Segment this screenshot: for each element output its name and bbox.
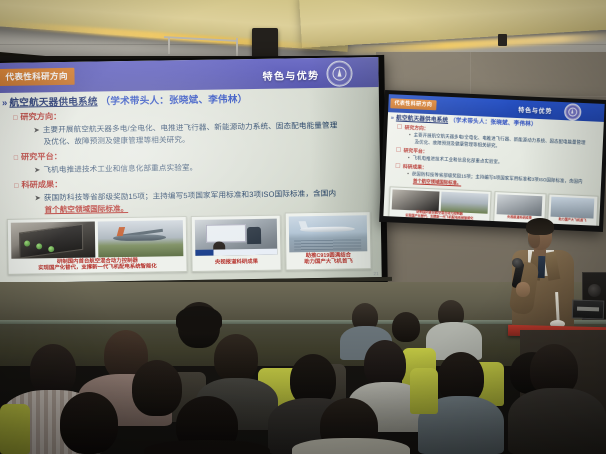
presenter-hand <box>516 282 530 297</box>
audience-shoulders <box>144 440 270 454</box>
desk-nameplate <box>572 299 605 319</box>
audience-head <box>176 306 222 332</box>
audience-shoulders <box>292 438 410 454</box>
conference-hall-photo: 代表性科研方向 特色与优势 »航空航天器供电系统 （学术带头人：张晓斌、李伟林）… <box>0 0 606 454</box>
audience-shoulders <box>508 388 606 454</box>
projector-bracket-post-left <box>168 38 170 54</box>
presenter-hair <box>526 218 554 235</box>
chair-back <box>410 368 438 414</box>
presenter-tie <box>538 256 546 278</box>
audience-head <box>30 344 76 396</box>
floor-speaker-cone <box>588 284 601 297</box>
chair-back <box>0 404 30 454</box>
audience-head <box>364 340 406 388</box>
audience-head <box>60 392 118 454</box>
projector-bracket-post-right <box>236 38 238 58</box>
audience-head <box>214 334 258 382</box>
ceiling-speaker-icon <box>498 34 507 46</box>
audience-head <box>132 360 182 416</box>
audience-head <box>392 312 420 342</box>
monitor-glare <box>383 94 604 226</box>
projection-screen: 代表性科研方向 特色与优势 »航空航天器供电系统 （学术带头人：张晓斌、李伟林）… <box>0 57 382 283</box>
screen-edge-shadow <box>308 57 381 278</box>
